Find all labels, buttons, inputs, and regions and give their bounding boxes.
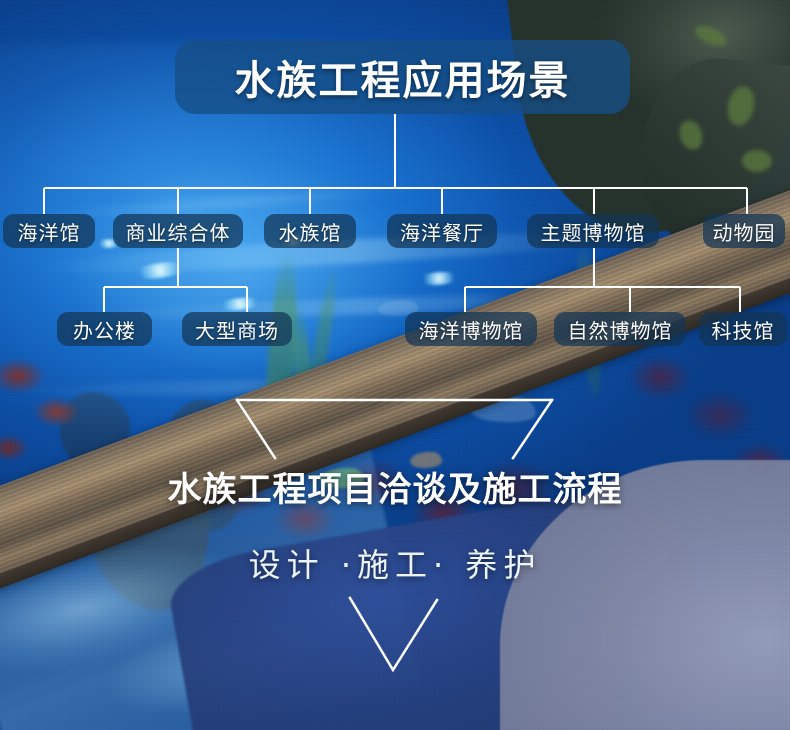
page-title-banner: 水族工程应用场景 (175, 40, 630, 114)
node-label: 水族馆 (279, 217, 342, 246)
node-label: 办公楼 (73, 315, 136, 344)
node-zoo[interactable]: 动物园 (703, 214, 785, 248)
footer-headline-row: 水族工程项目洽谈及施工流程 (0, 462, 790, 511)
node-label: 海洋博物馆 (419, 315, 524, 344)
node-nature-museum[interactable]: 自然博物馆 (554, 312, 686, 346)
node-commercial-complex[interactable]: 商业综合体 (113, 214, 243, 248)
node-science-museum[interactable]: 科技馆 (699, 312, 787, 346)
node-label: 海洋餐厅 (400, 217, 484, 246)
node-aquarium[interactable]: 水族馆 (264, 214, 356, 248)
funnel-left-leg (237, 400, 275, 458)
footer-headline: 水族工程项目洽谈及施工流程 (168, 470, 623, 510)
node-label: 商业综合体 (126, 217, 231, 246)
node-label: 自然博物馆 (568, 315, 673, 344)
node-label: 主题博物馆 (541, 217, 646, 246)
down-arrow-icon (350, 598, 437, 670)
node-theme-museum[interactable]: 主题博物馆 (527, 214, 659, 248)
poster-canvas: 水族工程应用场景 海洋馆 商业综合体 水族馆 海洋餐厅 主题博物馆 动物园 办公… (0, 0, 790, 730)
page-title: 水族工程应用场景 (235, 48, 571, 106)
node-label: 科技馆 (712, 315, 775, 344)
footer-tagline-row: 设计 ·施工· 养护 (0, 540, 790, 586)
node-oceanarium[interactable]: 海洋馆 (3, 214, 95, 248)
node-ocean-museum[interactable]: 海洋博物馆 (405, 312, 537, 346)
node-office-building[interactable]: 办公楼 (57, 312, 152, 346)
funnel-right-leg (513, 400, 552, 458)
node-label: 海洋馆 (18, 217, 81, 246)
node-shopping-mall[interactable]: 大型商场 (182, 312, 292, 346)
node-label: 大型商场 (195, 315, 279, 344)
footer-tagline: 设计 ·施工· 养护 (249, 546, 542, 584)
diagram-overlay: 水族工程应用场景 海洋馆 商业综合体 水族馆 海洋餐厅 主题博物馆 动物园 办公… (0, 0, 790, 730)
node-ocean-restaurant[interactable]: 海洋餐厅 (387, 214, 497, 248)
node-label: 动物园 (713, 217, 776, 246)
